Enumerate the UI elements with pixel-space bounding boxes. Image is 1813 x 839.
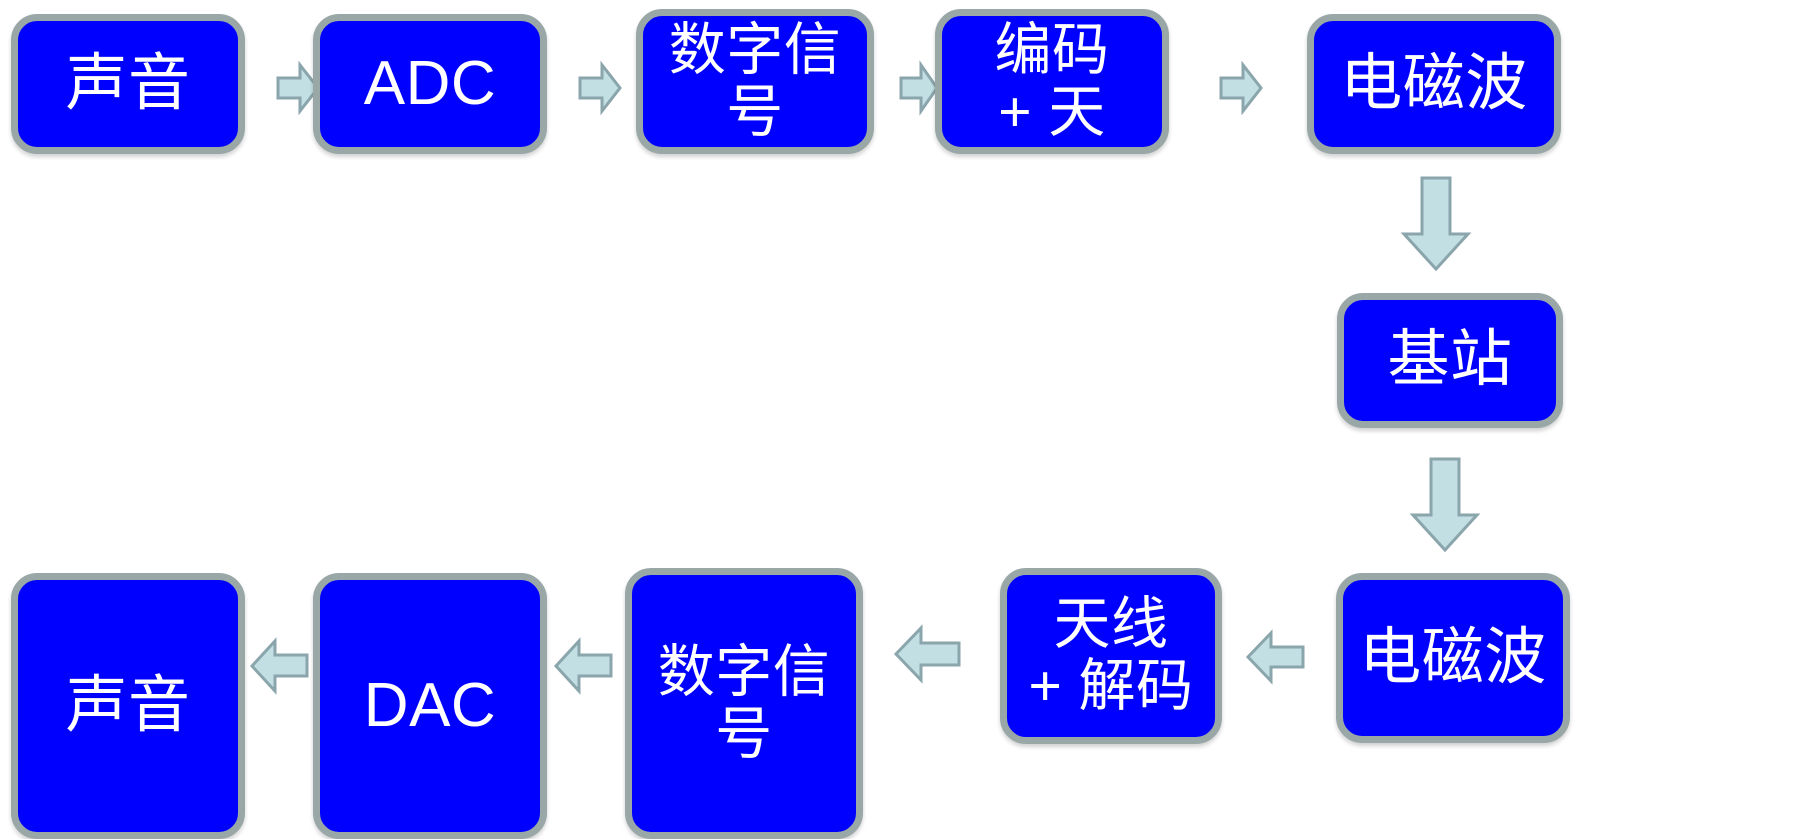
node-base-station-label: 基站 — [1344, 328, 1556, 392]
arrow-encode-to-emwave — [1219, 62, 1263, 114]
arrow-adc-to-digital — [578, 62, 622, 114]
node-rx-antenna-decode-label: 天线 + 解码 — [1007, 594, 1215, 717]
node-base-station[interactable]: 基站 — [1337, 293, 1563, 428]
node-rx-em-wave[interactable]: 电磁波 — [1336, 573, 1570, 743]
node-rx-dac-label: DAC — [320, 674, 540, 738]
arrow-emwave-to-antenna — [1245, 630, 1305, 684]
node-tx-em-wave[interactable]: 电磁波 — [1307, 14, 1561, 154]
node-rx-digital-signal[interactable]: 数字信号 — [625, 568, 863, 839]
node-tx-adc-label: ADC — [320, 52, 540, 116]
node-tx-digital-signal[interactable]: 数字信号 — [636, 9, 874, 154]
node-tx-sound[interactable]: 声音 — [11, 14, 245, 154]
node-rx-digital-signal-label: 数字信号 — [632, 642, 856, 765]
arrow-antenna-to-digital — [893, 625, 961, 683]
arrow-dac-to-sound — [249, 638, 309, 694]
node-rx-sound-label: 声音 — [18, 674, 238, 738]
arrow-digital-to-encode — [899, 62, 939, 114]
node-rx-dac[interactable]: DAC — [313, 573, 547, 839]
node-tx-encode-antenna-label: 编码 + 天 — [942, 20, 1162, 143]
arrow-digital-to-dac — [553, 638, 613, 694]
arrow-emwave-to-basestation — [1400, 176, 1472, 272]
node-rx-sound[interactable]: 声音 — [11, 573, 245, 839]
node-tx-digital-signal-label: 数字信号 — [643, 20, 867, 143]
node-tx-adc[interactable]: ADC — [313, 14, 547, 154]
node-tx-sound-label: 声音 — [18, 52, 238, 116]
node-tx-encode-antenna[interactable]: 编码 + 天 — [935, 9, 1169, 154]
node-rx-em-wave-label: 电磁波 — [1343, 626, 1563, 690]
node-rx-antenna-decode[interactable]: 天线 + 解码 — [1000, 568, 1222, 744]
flowchart-canvas: 声音 ADC 数字信号 编码 + 天 电磁波 — [0, 0, 1813, 839]
node-tx-em-wave-label: 电磁波 — [1314, 52, 1554, 116]
arrow-basestation-to-emwave — [1409, 457, 1481, 553]
